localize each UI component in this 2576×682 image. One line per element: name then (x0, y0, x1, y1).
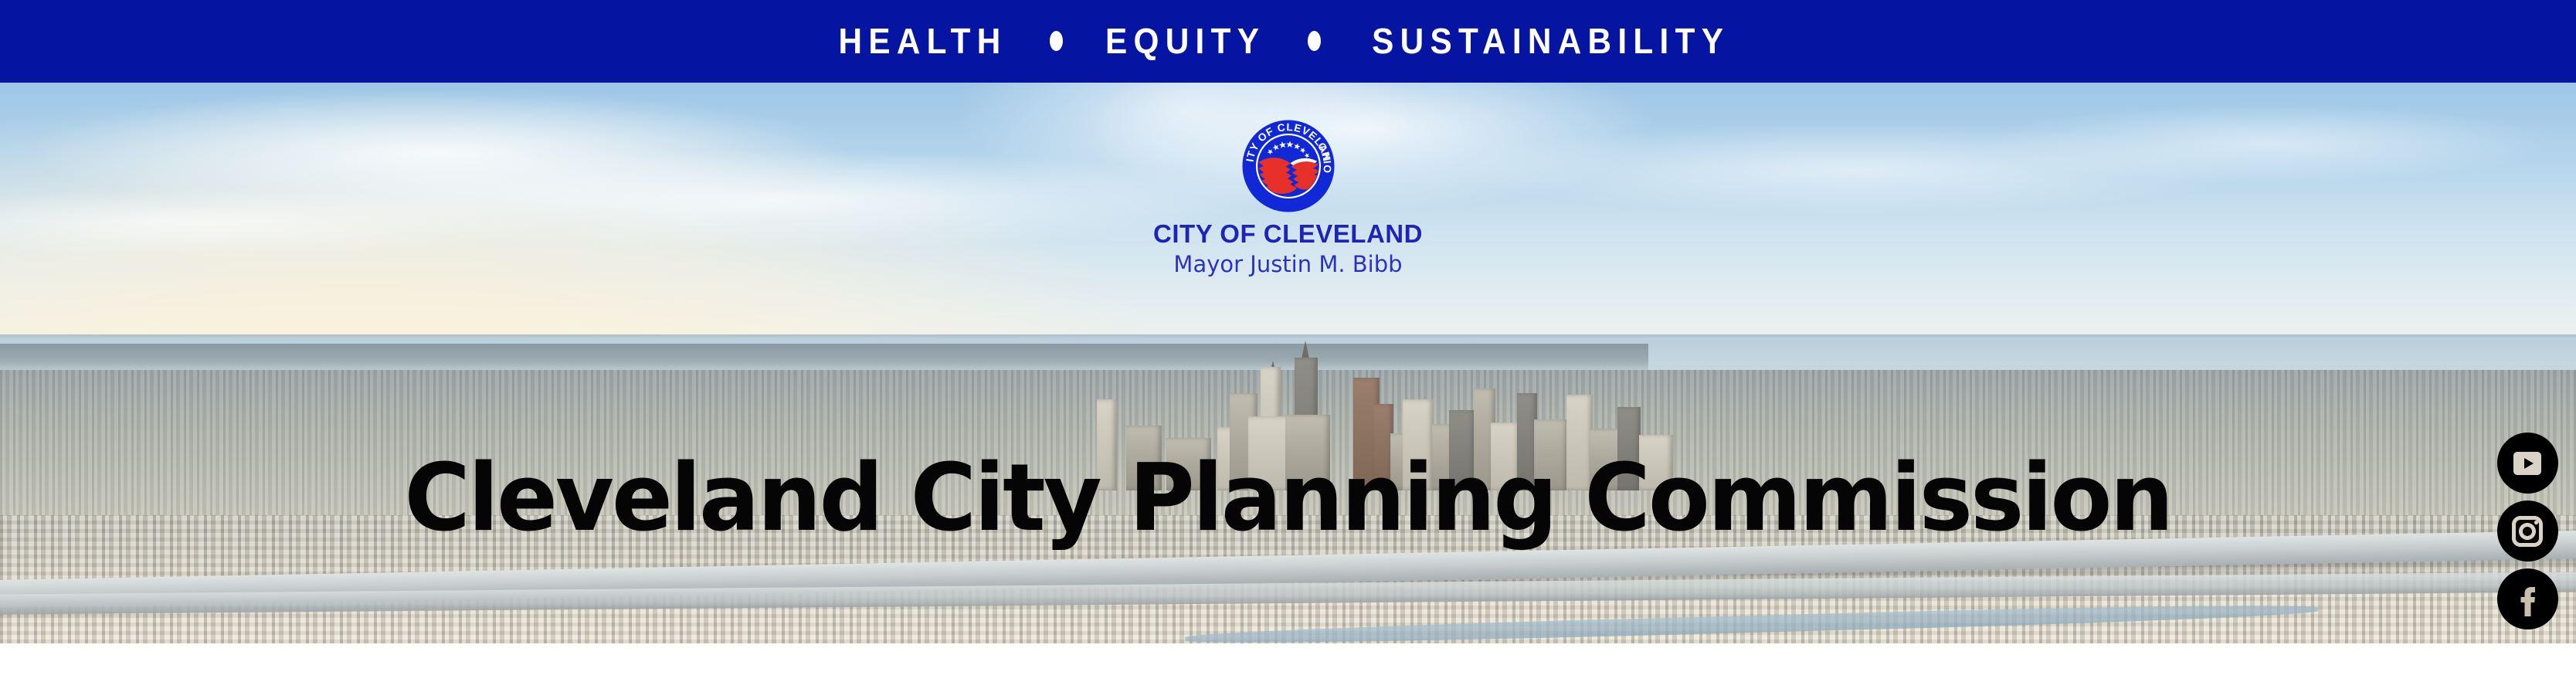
bullet-dot-icon (1308, 31, 1321, 51)
bullet-dot-icon (1050, 31, 1063, 51)
city-logo-block: CITY OF CLEVELAND OHIO (0, 118, 2576, 276)
social-link-facebook[interactable] (2497, 568, 2558, 629)
tagline-word-equity: EQUITY (1105, 23, 1265, 59)
tagline-row: HEALTH EQUITY SUSTAINABILITY (831, 23, 1746, 59)
youtube-icon (2509, 445, 2546, 482)
facebook-icon (2509, 581, 2546, 618)
bottom-white-strip (0, 643, 2576, 682)
tagline-banner: HEALTH EQUITY SUSTAINABILITY (0, 0, 2576, 83)
instagram-icon (2509, 513, 2546, 550)
organization-name: CITY OF CLEVELAND (0, 221, 2576, 246)
social-link-youtube[interactable] (2497, 433, 2558, 494)
page-title: Cleveland City Planning Commission (39, 453, 2537, 545)
mayor-name: Mayor Justin M. Bibb (0, 253, 2576, 276)
social-link-instagram[interactable] (2497, 500, 2558, 562)
social-links (2496, 433, 2558, 629)
city-of-cleveland-seal-icon: CITY OF CLEVELAND OHIO (1240, 118, 1336, 214)
page-root: HEALTH EQUITY SUSTAINABILITY (0, 0, 2576, 682)
tagline-word-health: HEALTH (838, 23, 1006, 59)
tagline-word-sustainability: SUSTAINABILITY (1372, 23, 1729, 59)
